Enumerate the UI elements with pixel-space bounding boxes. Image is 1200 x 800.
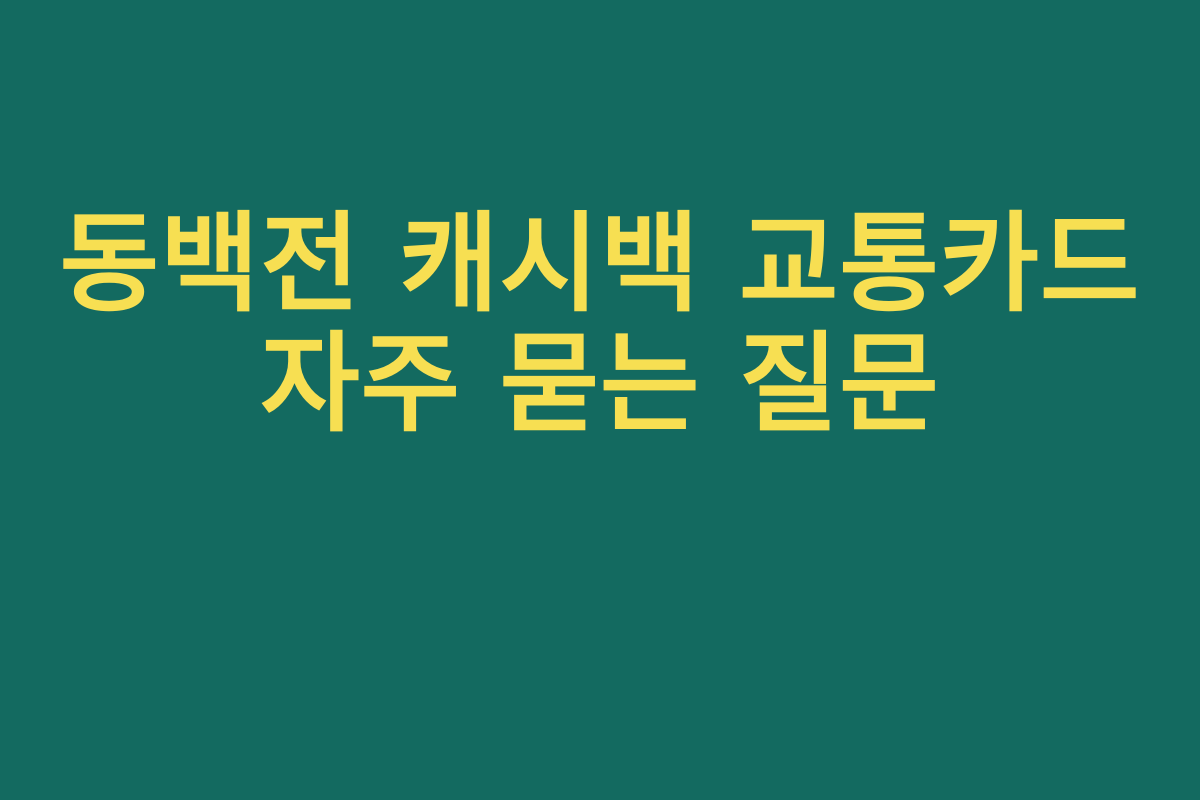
banner-title-line-2: 자주 묻는 질문 (260, 325, 939, 445)
banner-canvas: 동백전 캐시백 교통카드 자주 묻는 질문 (0, 0, 1200, 800)
banner-title-block: 동백전 캐시백 교통카드 자주 묻는 질문 (0, 205, 1200, 445)
banner-title-line-1: 동백전 캐시백 교통카드 (60, 205, 1141, 325)
